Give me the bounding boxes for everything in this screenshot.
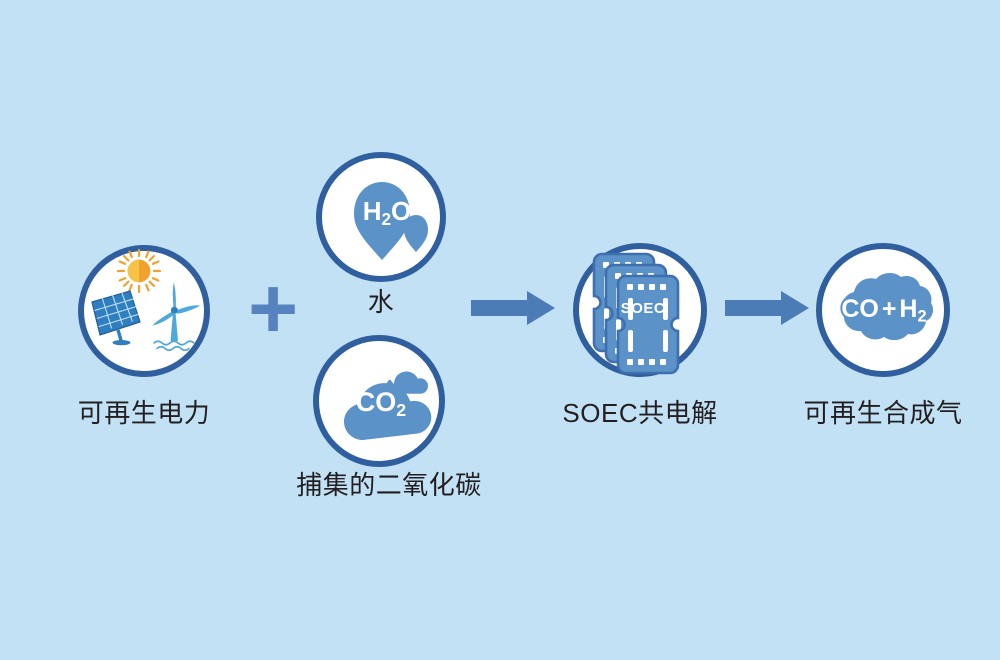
water-droplet-icon: [340, 172, 430, 267]
captured-co2-caption: 捕集的二氧化碳: [289, 470, 489, 500]
wind-turbine-icon: [148, 281, 202, 351]
soec-caption: SOEC共电解: [545, 398, 735, 428]
cloud-icon: [331, 352, 431, 450]
arrow-right-icon-1: [471, 290, 555, 326]
arrow-right-icon-2: [725, 290, 809, 326]
small-droplet-icon: [404, 215, 428, 252]
solar-panel-icon: [88, 288, 144, 346]
soec-stack-icon: [592, 252, 692, 370]
renewable-power-caption: 可再生电力: [44, 398, 244, 428]
plus-sign: +: [248, 266, 298, 352]
water-caption: 水: [311, 287, 451, 317]
syngas-blob-icon: [832, 268, 936, 354]
syngas-caption: 可再生合成气: [783, 398, 983, 428]
diagram-canvas: 可再生电力 + H2O 水: [0, 0, 1000, 660]
